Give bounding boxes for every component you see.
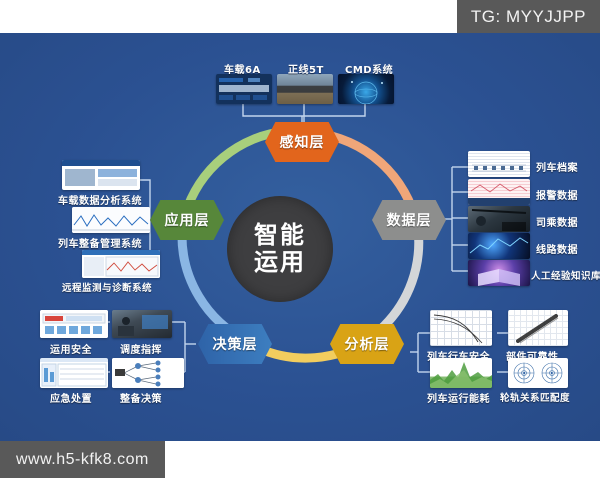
ring-node-application[interactable]: 应用层 xyxy=(150,200,224,240)
decision-thumb-2[interactable] xyxy=(40,358,108,388)
perception-label-0: 车载6A xyxy=(224,61,261,76)
ring-node-analysis[interactable]: 分析层 xyxy=(330,324,404,364)
ring-node-data[interactable]: 数据层 xyxy=(372,200,446,240)
application-label-2: 远程监测与诊断系统 xyxy=(62,280,152,294)
perception-thumb-1[interactable] xyxy=(277,74,333,104)
perception-label-1: 正线5T xyxy=(288,61,324,76)
analysis-thumb-2[interactable] xyxy=(430,358,492,388)
data-label-0: 列车档案 xyxy=(536,159,578,174)
perception-label-2: CMD系统 xyxy=(345,61,393,76)
decision-thumb-1[interactable] xyxy=(112,310,172,338)
decision-label-2: 应急处置 xyxy=(50,390,92,405)
decision-thumb-0[interactable] xyxy=(40,310,108,338)
analysis-thumb-0[interactable] xyxy=(430,310,492,346)
analysis-thumb-3[interactable] xyxy=(508,358,568,388)
ring-node-perception[interactable]: 感知层 xyxy=(265,122,339,162)
data-thumb-1[interactable] xyxy=(468,179,530,205)
ring-node-decision[interactable]: 决策层 xyxy=(198,324,272,364)
decision-label-3: 整备决策 xyxy=(120,390,162,405)
data-thumb-3[interactable] xyxy=(468,233,530,259)
core-title-line1: 智能 xyxy=(254,222,306,249)
analysis-label-2: 列车运行能耗 xyxy=(427,390,490,405)
watermark-bottom-left: www.h5-kfk8.com xyxy=(0,441,165,478)
decision-thumb-3[interactable] xyxy=(112,358,184,388)
data-label-3: 线路数据 xyxy=(536,241,578,256)
application-label-1: 列车整备管理系统 xyxy=(58,235,142,250)
analysis-label-3: 轮轨关系匹配度 xyxy=(500,390,570,404)
analysis-thumb-1[interactable] xyxy=(508,310,568,346)
application-thumb-0[interactable] xyxy=(62,160,140,190)
application-thumb-2[interactable] xyxy=(82,250,160,278)
core-circle: 智能 运用 xyxy=(227,196,333,302)
data-label-4: 人工经验知识库 xyxy=(531,268,600,282)
core-title-line2: 运用 xyxy=(254,249,306,276)
decision-label-0: 运用安全 xyxy=(50,341,92,356)
perception-thumb-0[interactable] xyxy=(216,74,272,104)
data-label-1: 报警数据 xyxy=(536,187,578,202)
data-thumb-2[interactable] xyxy=(468,206,530,232)
data-label-2: 司乘数据 xyxy=(536,214,578,229)
data-thumb-4[interactable] xyxy=(468,260,530,286)
watermark-top-right: TG: MYYJJPP xyxy=(457,0,600,33)
application-label-0: 车载数据分析系统 xyxy=(58,192,142,207)
decision-label-1: 调度指挥 xyxy=(120,341,162,356)
application-thumb-1[interactable] xyxy=(72,207,150,233)
data-thumb-0[interactable] xyxy=(468,151,530,177)
diagram-canvas: 智能 运用 感知层 应用层 数据层 决策层 分析层 车载6A 正线5T CMD系… xyxy=(0,0,600,480)
perception-thumb-2[interactable] xyxy=(338,74,394,104)
